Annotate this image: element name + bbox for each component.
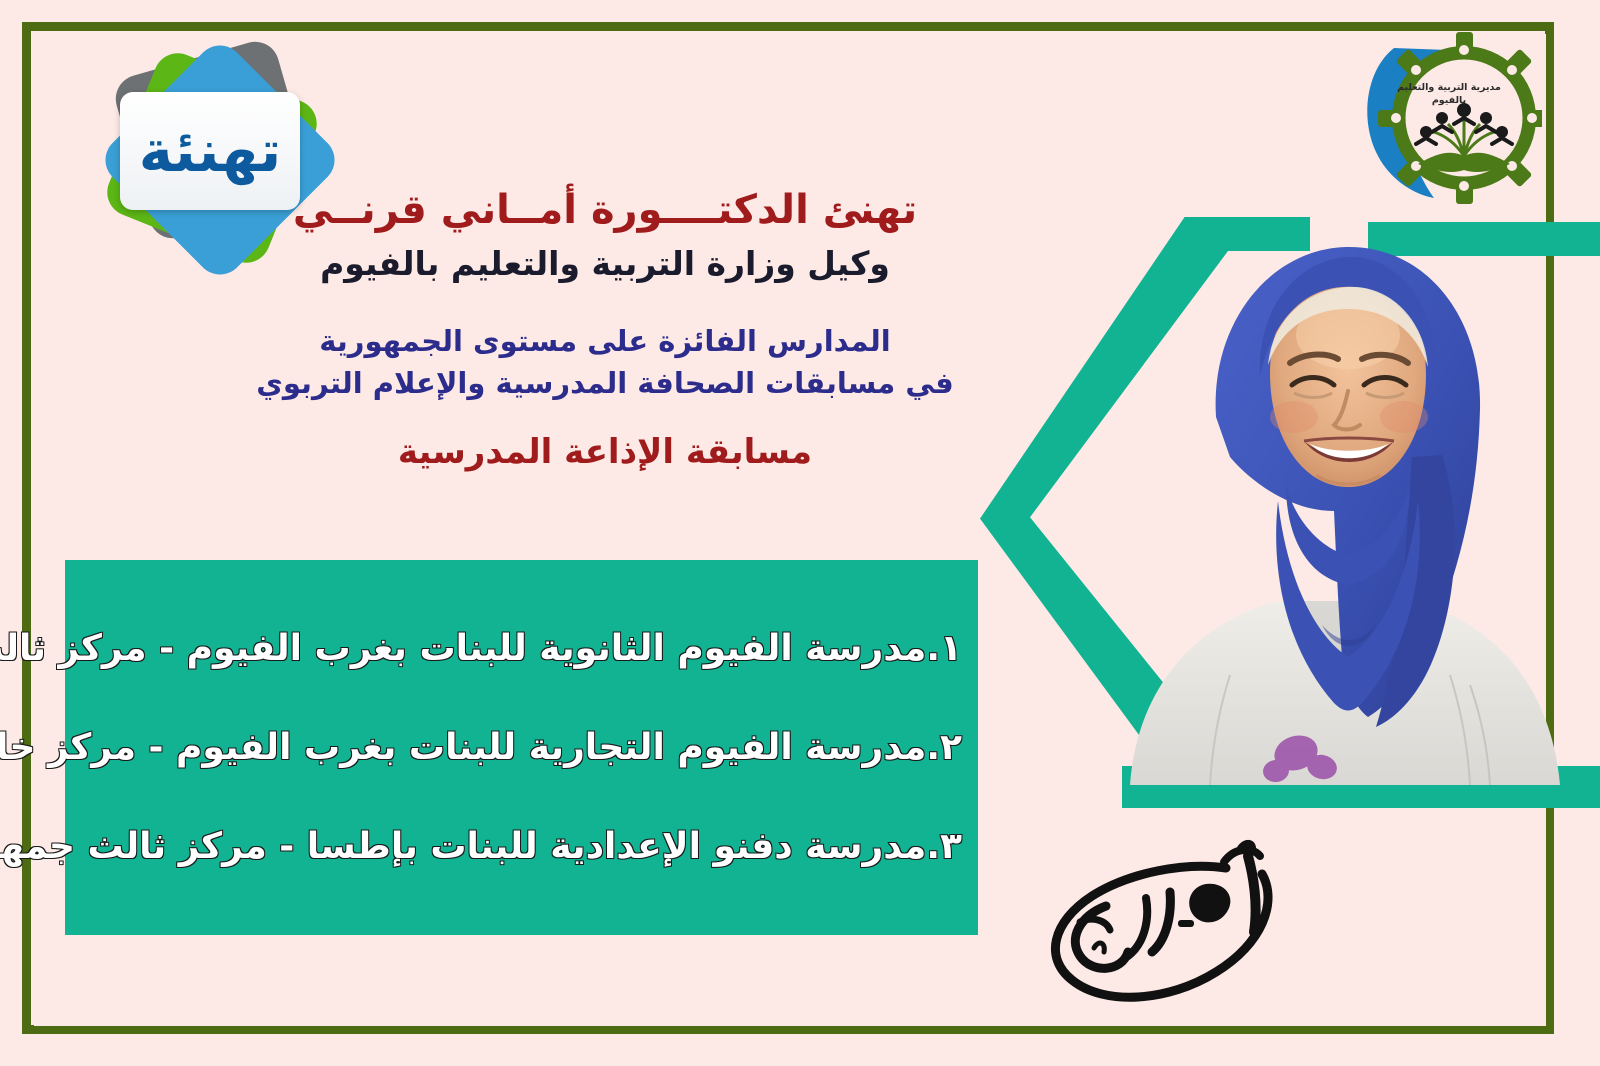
- portrait-frame: [960, 205, 1600, 815]
- subtitle-line-2: في مسابقات الصحافة المدرسية والإعلام الت…: [190, 362, 1020, 404]
- congratulation-poster: تهنئة: [0, 0, 1600, 1066]
- badge-label: تهنئة: [139, 122, 282, 180]
- headline-text-block: تهنئ الدكتــــورة أمــاني قرنــي وكيل وز…: [190, 186, 1020, 473]
- mabrouk-calligraphy: [1010, 828, 1310, 1018]
- result-item: ١.مدرسة الفيوم الثانوية للبنات بغرب الفي…: [81, 628, 962, 669]
- congratulation-line: تهنئ الدكتــــورة أمــاني قرنــي: [190, 186, 1020, 235]
- role-line: وكيل وزارة التربية والتعليم بالفيوم: [190, 243, 1020, 286]
- subtitle-line-1: المدارس الفائزة على مستوى الجمهورية: [190, 320, 1020, 362]
- result-item: ٣.مدرسة دفنو الإعدادية للبنات بإطسا - مر…: [81, 826, 962, 867]
- education-directorate-logo: مديرية التربية والتعليم بالفيوم: [1356, 26, 1542, 208]
- portrait-photo: [1090, 205, 1590, 785]
- contest-title: مسابقة الإذاعة المدرسية: [190, 432, 1020, 473]
- result-item: ٢.مدرسة الفيوم التجارية للبنات بغرب الفي…: [81, 727, 962, 768]
- subtitle-group: المدارس الفائزة على مستوى الجمهورية في م…: [190, 320, 1020, 404]
- winning-schools-panel: ١.مدرسة الفيوم الثانوية للبنات بغرب الفي…: [65, 560, 978, 935]
